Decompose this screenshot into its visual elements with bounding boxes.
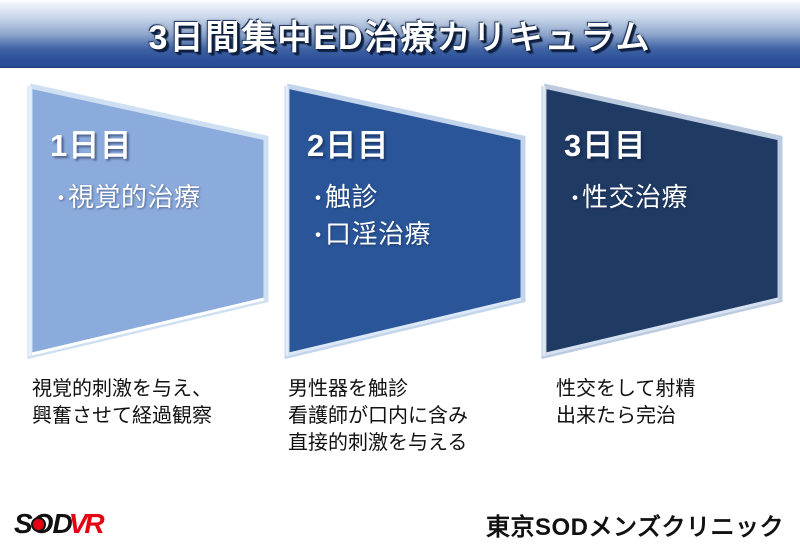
panel-list-item: ・触診	[307, 179, 517, 217]
panel-day-3[interactable]: 3日目 ・性交治療	[538, 68, 788, 368]
caption-line: 出来たら完治	[556, 403, 695, 430]
caption-day-3: 性交をして射精 出来たら完治	[556, 376, 695, 430]
panel-day-label-2: 2日目	[307, 130, 517, 163]
panel-body-day-2: 2日目 ・触診 ・口淫治療	[281, 68, 531, 368]
panel-body-day-3: 3日目 ・性交治療	[538, 68, 788, 368]
title-banner: 3日間集中ED治療カリキュラム	[0, 0, 800, 68]
panel-day-2[interactable]: 2日目 ・触診 ・口淫治療	[281, 68, 531, 368]
panel-item-text: 視覚的治療	[68, 182, 201, 212]
caption-line: 興奮させて経過観察	[32, 403, 212, 430]
clinic-name: 東京SODメンズクリニック	[486, 507, 784, 542]
caption-row: 視覚的刺激を与え、 興奮させて経過観察 男性器を触診 看護師が口内に含み 直接的…	[0, 376, 800, 476]
sodvr-logo[interactable]: SOD VR	[14, 509, 102, 539]
panel-item-text: 性交治療	[582, 182, 688, 212]
panel-day-1[interactable]: 1日目 ・視覚的治療	[24, 68, 274, 368]
panel-day-label-1: 1日目	[50, 130, 260, 163]
bullet-icon: ・	[564, 183, 582, 215]
caption-line: 直接的刺激を与える	[288, 430, 468, 457]
page-title: 3日間集中ED治療カリキュラム	[0, 0, 800, 68]
caption-day-1: 視覚的刺激を与え、 興奮させて経過観察	[32, 376, 212, 430]
bullet-icon: ・	[307, 183, 325, 215]
panel-day-label-3: 3日目	[564, 130, 774, 163]
panel-list-item: ・視覚的治療	[50, 179, 260, 217]
panel-list-item: ・口淫治療	[307, 216, 517, 254]
caption-day-2: 男性器を触診 看護師が口内に含み 直接的刺激を与える	[288, 376, 468, 457]
bullet-icon: ・	[307, 220, 325, 252]
logo-red-dot-icon	[31, 517, 46, 532]
panel-row: 1日目 ・視覚的治療 2日目 ・触診 ・口淫治療	[0, 68, 800, 368]
caption-line: 視覚的刺激を与え、	[32, 376, 212, 403]
panel-list-item: ・性交治療	[564, 179, 774, 217]
caption-line: 看護師が口内に含み	[288, 403, 468, 430]
panel-item-text: 触診	[325, 182, 378, 212]
panel-item-text: 口淫治療	[325, 219, 431, 249]
caption-line: 男性器を触診	[288, 376, 468, 403]
panel-body-day-1: 1日目 ・視覚的治療	[24, 68, 274, 368]
logo-vr-label: VR	[69, 508, 102, 540]
caption-line: 性交をして射精	[556, 376, 695, 403]
logo-sod-text: SOD	[14, 508, 72, 540]
footer: SOD VR 東京SODメンズクリニック	[0, 495, 800, 554]
bullet-icon: ・	[50, 183, 68, 215]
